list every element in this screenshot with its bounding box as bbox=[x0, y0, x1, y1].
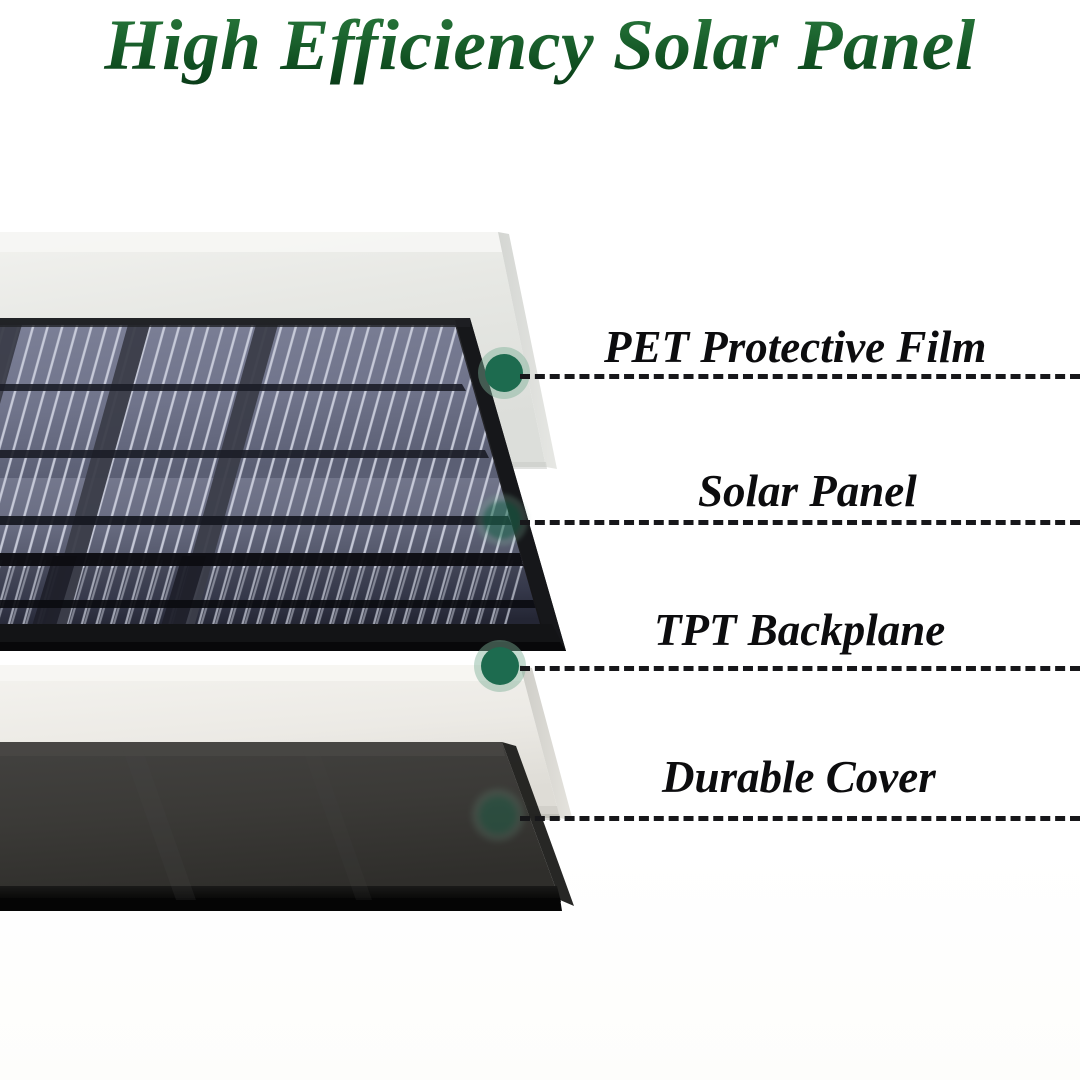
callout-label-durable-cover: Durable Cover bbox=[662, 753, 936, 801]
marker-dot-pet-protective-film[interactable] bbox=[478, 347, 530, 399]
product-infographic: High Efficiency Solar Panel bbox=[0, 0, 1080, 1080]
callout-line-tpt-backplane bbox=[520, 666, 1080, 671]
callout-label-solar-panel: Solar Panel bbox=[698, 467, 917, 515]
marker-dot-tpt-backplane[interactable] bbox=[474, 640, 526, 692]
callout-line-pet-protective-film bbox=[520, 374, 1080, 379]
callout-line-solar-panel bbox=[520, 520, 1080, 525]
marker-dot-durable-cover[interactable] bbox=[472, 789, 524, 841]
callout-label-pet-protective-film: PET Protective Film bbox=[604, 323, 986, 371]
callout-label-tpt-backplane: TPT Backplane bbox=[654, 606, 945, 654]
callout-line-durable-cover bbox=[520, 816, 1080, 821]
exploded-solar-panel-diagram bbox=[0, 0, 640, 1080]
